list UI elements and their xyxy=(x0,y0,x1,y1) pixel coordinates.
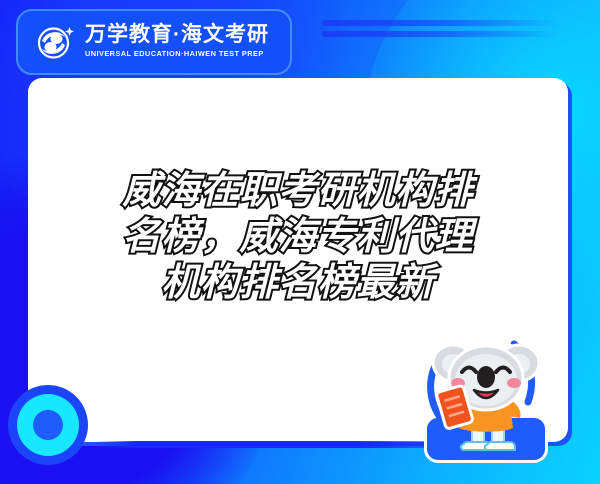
koala-mascot-icon xyxy=(418,330,558,458)
speed-line-decoration xyxy=(322,20,560,26)
page-title-line-2: 名榜，威海专利代理 xyxy=(28,214,568,260)
page-title-line-1: 威海在职考研机构排 xyxy=(28,168,568,214)
brand-name-en: UNIVERSAL EDUCATION·HAIWEN TEST PREP xyxy=(85,48,269,59)
page-title: 威海在职考研机构排 名榜，威海专利代理 机构排名榜最新 xyxy=(28,168,568,306)
page-title-line-3: 机构排名榜最新 xyxy=(28,260,568,306)
concentric-ring-icon xyxy=(8,385,88,465)
brand-name-cn: 万学教育·海文考研 xyxy=(85,24,269,46)
poster-canvas: 万学教育·海文考研 UNIVERSAL EDUCATION·HAIWEN TES… xyxy=(0,0,600,484)
speed-line-decoration xyxy=(322,31,560,37)
brand-logo-badge[interactable]: 万学教育·海文考研 UNIVERSAL EDUCATION·HAIWEN TES… xyxy=(16,9,292,75)
wave-circle-logo-icon xyxy=(34,21,76,63)
brand-logo-text: 万学教育·海文考研 UNIVERSAL EDUCATION·HAIWEN TES… xyxy=(85,24,269,59)
